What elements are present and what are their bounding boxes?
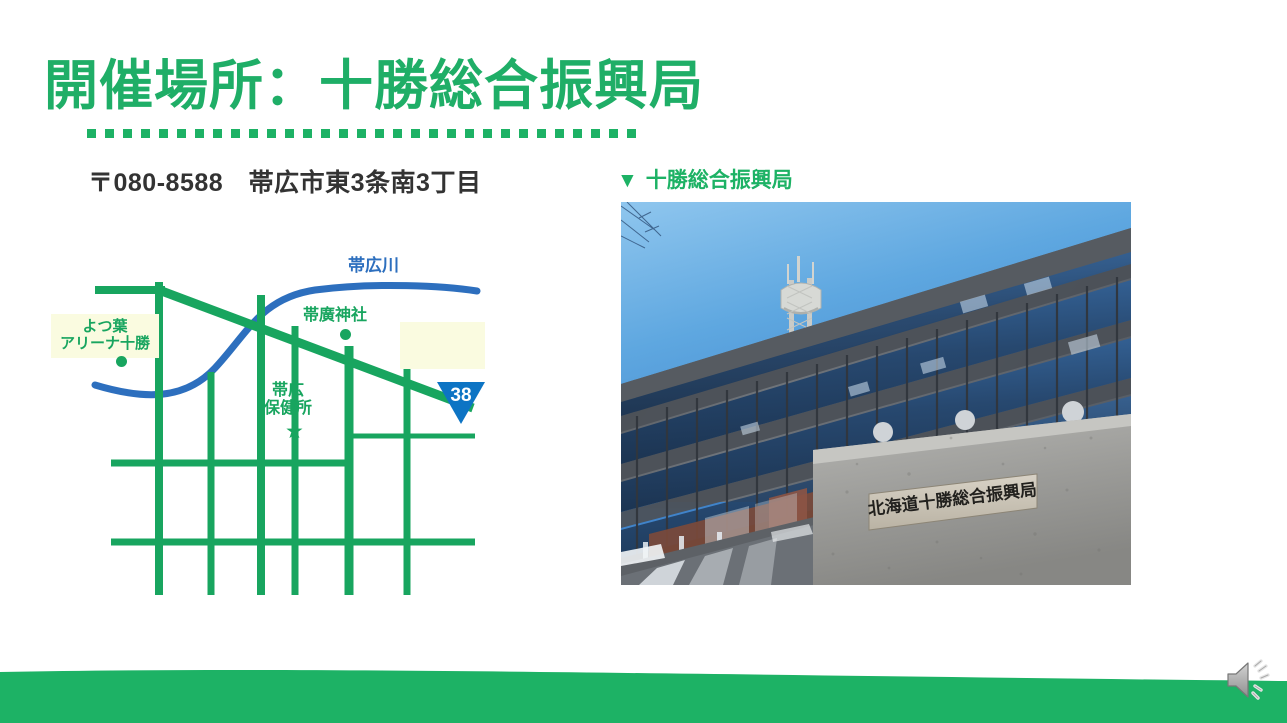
speaker-icon-glyph xyxy=(1222,654,1274,706)
venue-photo: 北海道十勝総合振興局 xyxy=(621,202,1131,585)
venue-photo-illustration: 北海道十勝総合振興局 xyxy=(621,202,1131,585)
slide-canvas: 開催場所：十勝総合振興局 〒080-8588 帯広市東3条南3丁目 ▼十勝総合振… xyxy=(0,0,1287,723)
venue-address: 〒080-8588 帯広市東3条南3丁目 xyxy=(88,163,481,199)
map-label-yotsuba-arena-line2: アリーナ十勝 xyxy=(60,335,150,352)
page-title: 開催場所：十勝総合振興局 xyxy=(44,55,704,117)
map-highlight-block xyxy=(400,322,485,369)
map-label-obihiro-shrine: 帯廣神社 xyxy=(303,307,367,325)
map-marker-dot-shrine xyxy=(340,329,351,340)
map-label-obihiro-river: 帯広川 xyxy=(348,256,399,276)
footer-band-shape xyxy=(0,628,1287,723)
route-38-shield: 38 xyxy=(437,382,485,424)
footer-band xyxy=(0,628,1287,723)
map-label-health-center-line2: 保健所 xyxy=(264,400,312,418)
photo-caption: ▼十勝総合振興局 xyxy=(617,164,793,194)
route-shield-number: 38 xyxy=(437,385,485,407)
map-label-yotsuba-arena: よつ葉 アリーナ十勝 xyxy=(51,314,159,358)
map-marker-dot-arena xyxy=(116,356,127,367)
title-dotted-underline xyxy=(87,129,645,138)
triangle-down-icon: ▼ xyxy=(617,169,638,193)
map-marker-star-health-center: ★ xyxy=(285,421,304,442)
map-label-health-center: 帯広 保健所 xyxy=(264,382,312,419)
photo-caption-label: 十勝総合振興局 xyxy=(646,169,793,192)
map-label-yotsuba-arena-line1: よつ葉 xyxy=(60,318,150,335)
access-map: 38 xyxy=(55,250,555,595)
map-label-health-center-line1: 帯広 xyxy=(264,382,312,400)
speaker-icon[interactable] xyxy=(1222,654,1274,706)
